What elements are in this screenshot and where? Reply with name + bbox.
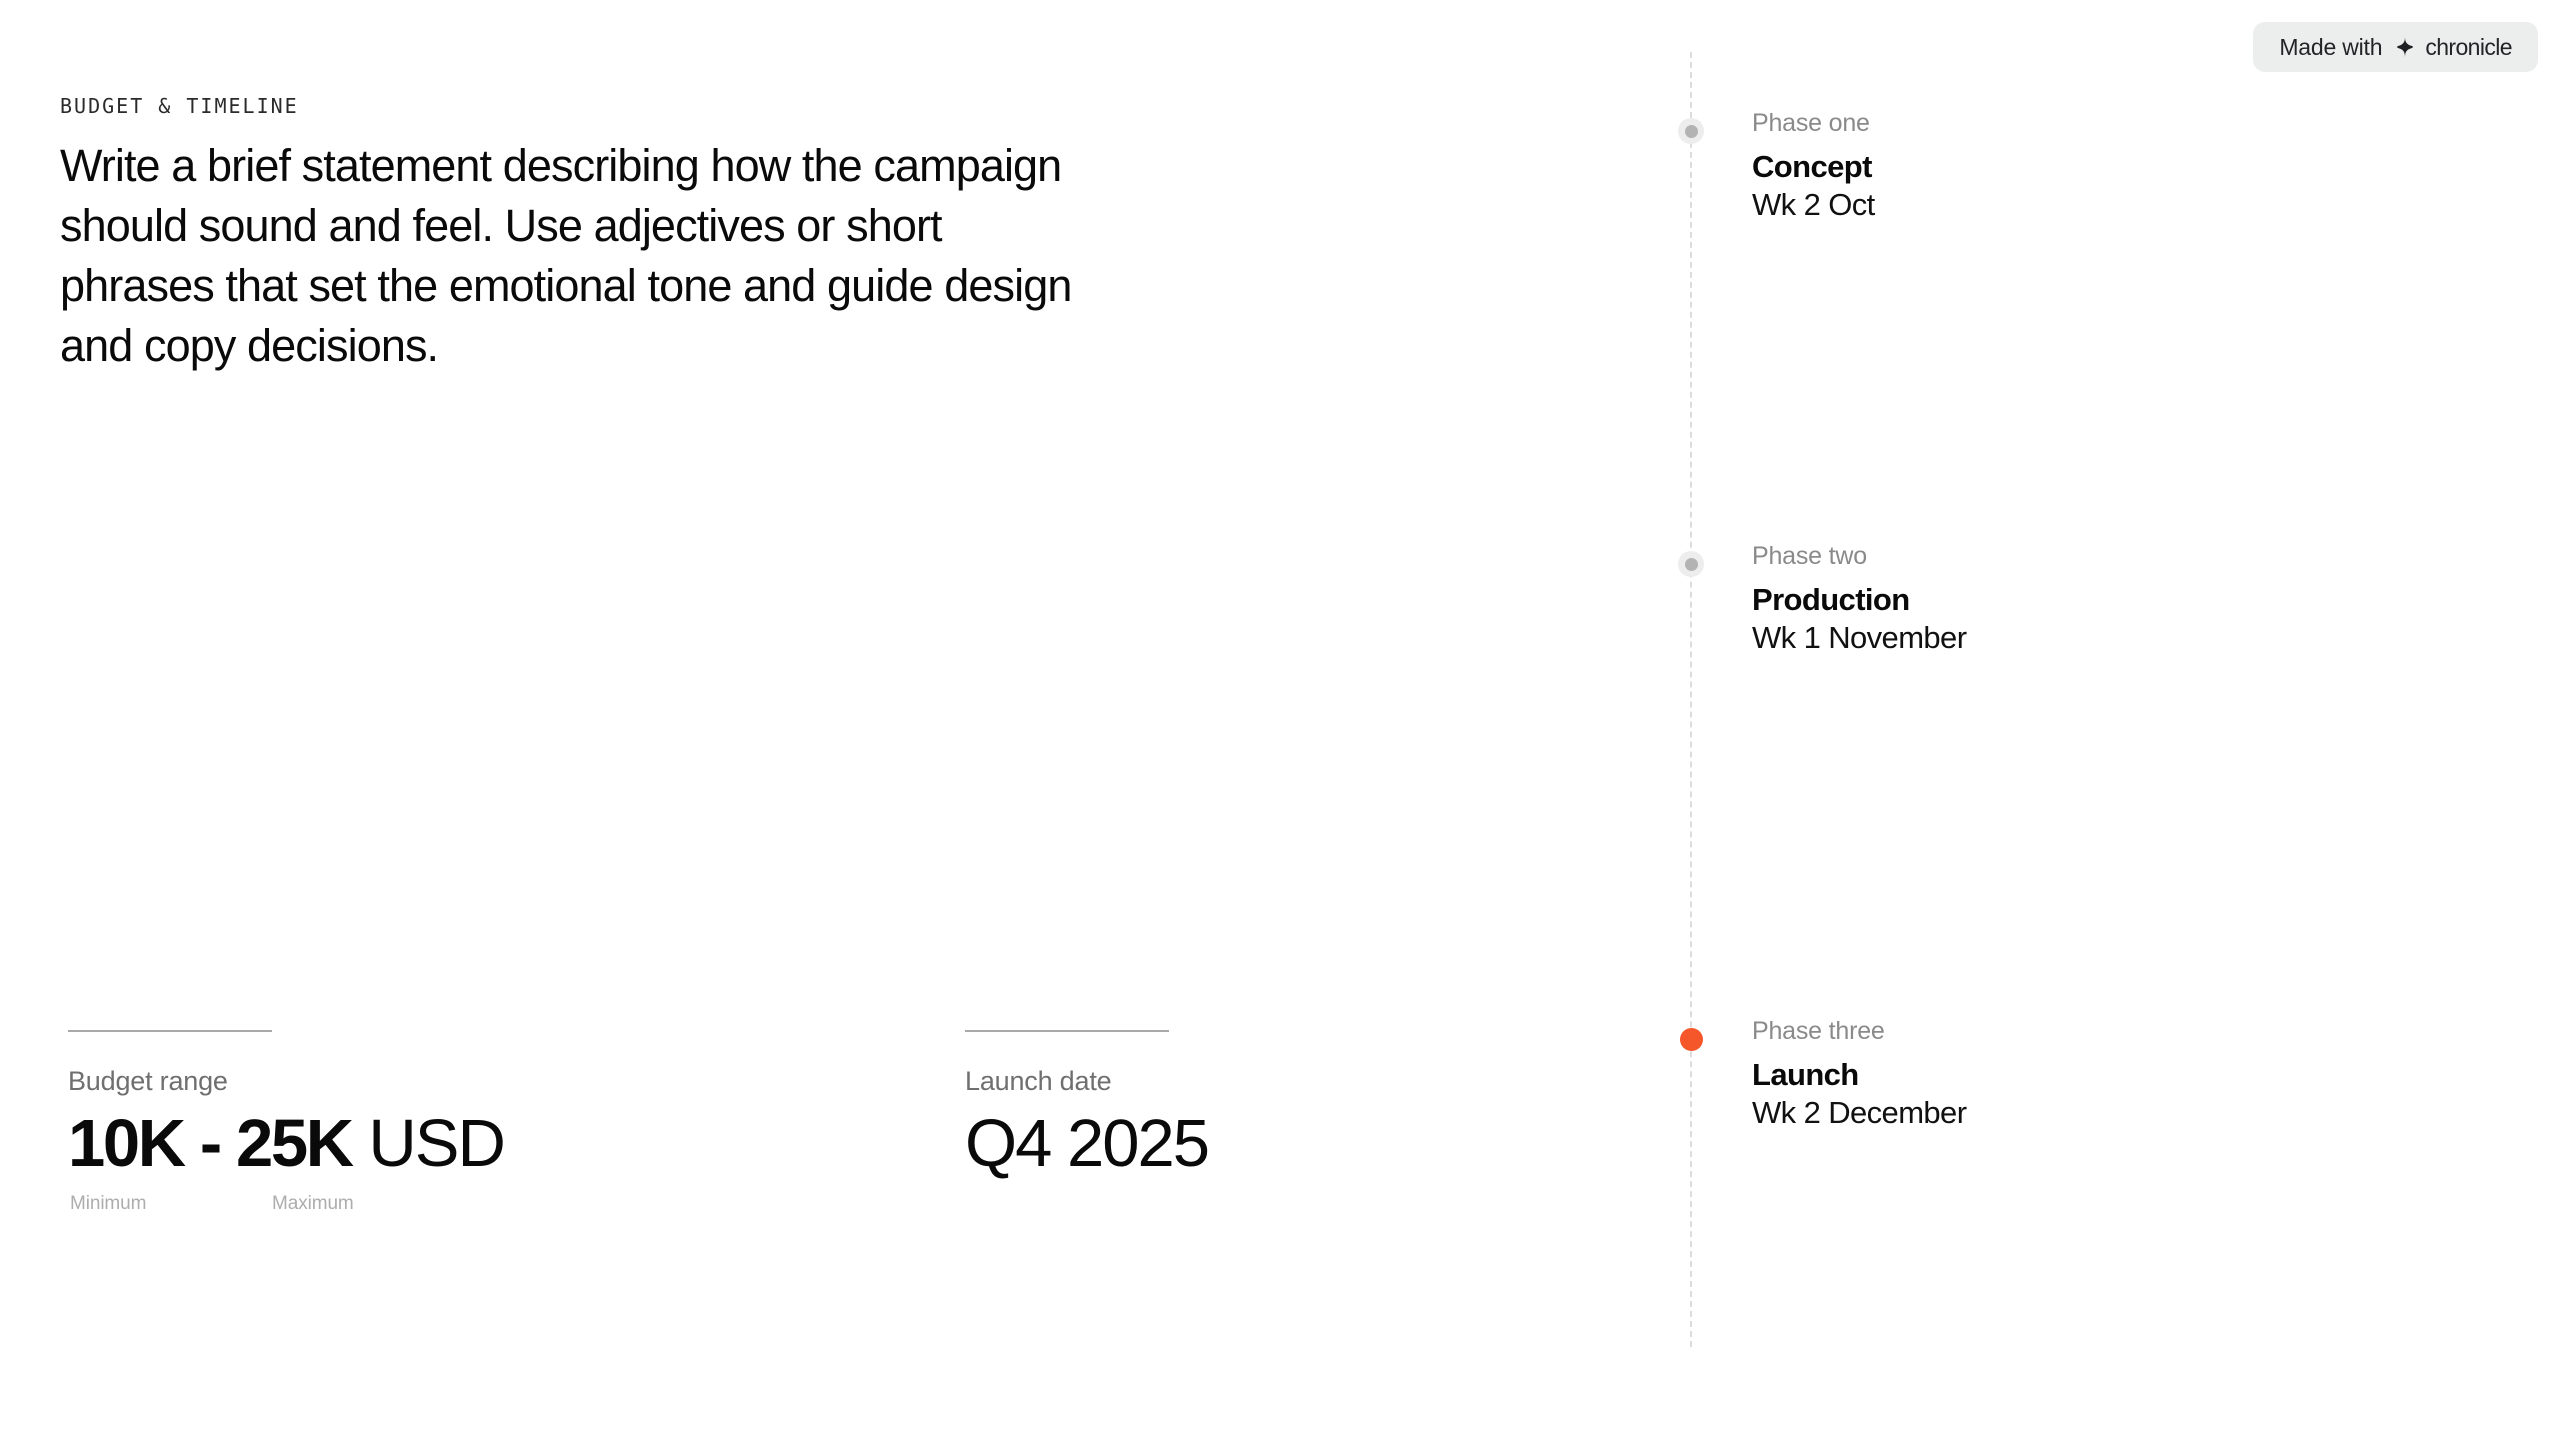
phase-body: Phase two Production Wk 1 November <box>1752 542 2492 656</box>
stat-sublabel-maximum: Maximum <box>272 1193 354 1215</box>
stat-launch-date: Launch date Q4 2025 <box>965 1030 1208 1183</box>
timeline-axis-line <box>1690 52 1692 1347</box>
phase-title: Launch <box>1752 1057 2492 1093</box>
phase-when: Wk 2 Oct <box>1752 187 2492 223</box>
phase-title: Concept <box>1752 149 2492 185</box>
stat-label: Budget range <box>68 1066 504 1097</box>
phase-when: Wk 2 December <box>1752 1095 2492 1131</box>
phase-kicker: Phase three <box>1752 1017 2492 1046</box>
phase-marker-active-icon <box>1678 1026 1704 1052</box>
phase-title: Production <box>1752 582 2492 618</box>
stat-value: 10K - 25K USD <box>68 1105 504 1183</box>
section-lede-paragraph: Write a brief statement describing how t… <box>60 136 1090 376</box>
stat-sublabel-minimum: Minimum <box>70 1193 146 1215</box>
phase-when: Wk 1 November <box>1752 620 2492 656</box>
phase-kicker: Phase one <box>1752 109 2492 138</box>
stat-sublabels: Minimum Maximum <box>68 1193 504 1217</box>
phase-body: Phase three Launch Wk 2 December <box>1752 1017 2492 1131</box>
stat-budget-range: Budget range 10K - 25K USD Minimum Maxim… <box>68 1030 504 1217</box>
stat-label: Launch date <box>965 1066 1208 1097</box>
budget-range-amount: 10K - 25K <box>68 1106 352 1181</box>
phase-marker-idle-icon <box>1678 118 1704 144</box>
phase-kicker: Phase two <box>1752 542 2492 571</box>
content-column: BUDGET & TIMELINE Write a brief statemen… <box>60 0 1620 1440</box>
phase-body: Phase one Concept Wk 2 Oct <box>1752 109 2492 223</box>
phase-timeline: Phase one Concept Wk 2 Oct Phase two Pro… <box>1630 0 2560 1440</box>
budget-currency: USD <box>352 1106 504 1181</box>
phase-marker-idle-icon <box>1678 551 1704 577</box>
section-eyebrow: BUDGET & TIMELINE <box>60 94 299 118</box>
stat-rule <box>68 1030 272 1032</box>
stat-value: Q4 2025 <box>965 1105 1208 1183</box>
stat-rule <box>965 1030 1169 1032</box>
